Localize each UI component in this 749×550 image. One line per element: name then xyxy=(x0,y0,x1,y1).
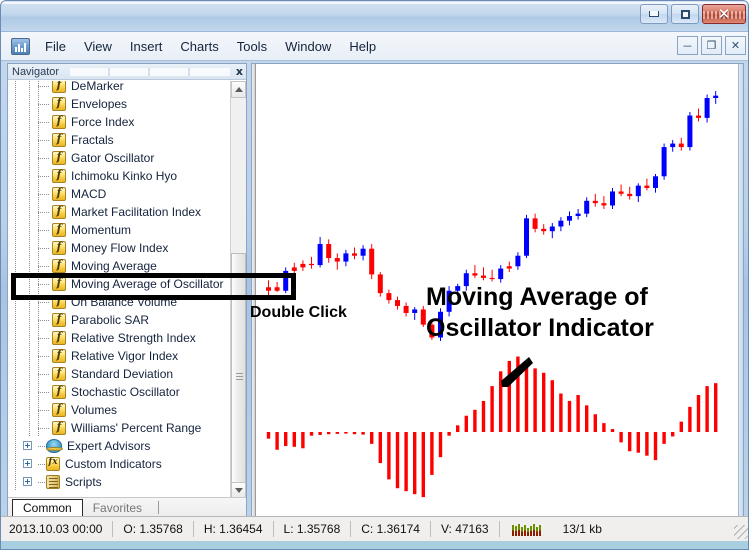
indicator-function-icon xyxy=(52,385,66,399)
navigator-item-label: Moving Average of Oscillator xyxy=(71,277,224,291)
status-low: L: 1.35768 xyxy=(274,521,352,537)
chevron-up-icon xyxy=(235,87,243,92)
navigator-panel: Navigator x DeMarkerEnvelopesForce Index… xyxy=(7,63,247,518)
indicator-function-icon xyxy=(52,295,66,309)
navigator-group-expert-advisors[interactable]: Expert Advisors xyxy=(8,437,230,455)
expand-plus-icon[interactable] xyxy=(22,473,38,491)
status-bar: 2013.10.03 00:00 O: 1.35768 H: 1.36454 L… xyxy=(1,516,749,541)
tree-elbow-icon xyxy=(36,383,52,401)
indicator-function-icon xyxy=(52,331,66,345)
navigator-item-label: Market Facilitation Index xyxy=(71,205,201,219)
close-button[interactable]: ✕ xyxy=(702,4,746,24)
tree-indent xyxy=(22,311,36,329)
tree-indent xyxy=(8,311,22,329)
navigator-tree[interactable]: DeMarkerEnvelopesForce IndexFractalsGato… xyxy=(8,81,246,499)
tree-indent xyxy=(8,185,22,203)
status-datetime: 2013.10.03 00:00 xyxy=(1,521,113,537)
window-caption-buttons: ✕ xyxy=(640,4,746,24)
tab-common[interactable]: Common xyxy=(12,499,83,517)
status-open: O: 1.35768 xyxy=(113,521,193,537)
tree-indent xyxy=(22,167,36,185)
navigator-item-label: Ichimoku Kinko Hyo xyxy=(71,169,177,183)
navigator-item-label: Money Flow Index xyxy=(71,241,168,255)
tree-indent xyxy=(8,437,22,455)
window-bottom-strip xyxy=(1,541,749,549)
navigator-item-relative-strength-index[interactable]: Relative Strength Index xyxy=(8,329,230,347)
tree-indent xyxy=(22,239,36,257)
indicator-function-icon xyxy=(52,259,66,273)
application-window: ✕ File View Insert Charts Tools Window H… xyxy=(0,0,749,550)
indicator-function-icon xyxy=(52,187,66,201)
status-traffic: 13/1 kb xyxy=(553,521,612,537)
navigator-item-label: Moving Average xyxy=(71,259,157,273)
tree-elbow-icon xyxy=(36,419,52,437)
indicator-function-icon xyxy=(52,205,66,219)
tree-indent xyxy=(8,329,22,347)
status-close: C: 1.36174 xyxy=(351,521,431,537)
indicator-function-icon xyxy=(52,169,66,183)
tree-elbow-icon xyxy=(36,275,52,293)
tree-elbow-icon xyxy=(36,221,52,239)
tree-indent xyxy=(8,365,22,383)
status-volume: V: 47163 xyxy=(431,521,500,537)
tree-indent xyxy=(22,365,36,383)
navigator-group-scripts[interactable]: Scripts xyxy=(8,473,230,491)
navigator-item-moving-average[interactable]: Moving Average xyxy=(8,257,230,275)
tree-elbow-icon xyxy=(38,473,46,491)
custom-indicators-icon xyxy=(46,457,60,471)
tree-elbow-icon xyxy=(36,185,52,203)
chart-right-axis xyxy=(738,64,743,517)
tree-elbow-icon xyxy=(36,95,52,113)
tree-indent xyxy=(8,203,22,221)
tree-indent xyxy=(22,401,36,419)
tree-indent xyxy=(8,275,22,293)
tree-indent xyxy=(8,257,22,275)
tree-indent xyxy=(22,275,36,293)
indicator-function-icon xyxy=(52,403,66,417)
menu-view[interactable]: View xyxy=(75,36,121,57)
indicator-function-icon xyxy=(52,133,66,147)
indicator-function-icon xyxy=(52,223,66,237)
navigator-item-stochastic-oscillator[interactable]: Stochastic Oscillator xyxy=(8,383,230,401)
tree-elbow-icon xyxy=(38,437,46,455)
expand-plus-icon[interactable] xyxy=(22,437,38,455)
indicator-function-icon xyxy=(52,97,66,111)
navigator-item-ichimoku-kinko-hyo[interactable]: Ichimoku Kinko Hyo xyxy=(8,167,230,185)
navigator-item-money-flow-index[interactable]: Money Flow Index xyxy=(8,239,230,257)
navigator-item-standard-deviation[interactable]: Standard Deviation xyxy=(8,365,230,383)
navigator-item-label: Volumes xyxy=(71,403,117,417)
indicator-function-icon xyxy=(52,115,66,129)
tree-indent xyxy=(8,455,22,473)
navigator-item-label: MACD xyxy=(71,187,106,201)
connection-strength-icon xyxy=(510,523,543,536)
indicator-function-icon xyxy=(52,367,66,381)
tree-indent xyxy=(8,473,22,491)
navigator-tree-list: DeMarkerEnvelopesForce IndexFractalsGato… xyxy=(8,81,230,491)
tree-indent xyxy=(22,149,36,167)
scripts-icon xyxy=(46,475,60,489)
scrollbar-grip-icon xyxy=(236,373,243,374)
tab-separator xyxy=(158,501,159,514)
tree-elbow-icon xyxy=(38,455,46,473)
navigator-group-label: Custom Indicators xyxy=(65,457,162,471)
scrollbar-thumb[interactable] xyxy=(231,253,246,501)
tree-indent xyxy=(8,149,22,167)
navigator-drag-grip[interactable] xyxy=(70,68,230,76)
navigator-item-market-facilitation-index[interactable]: Market Facilitation Index xyxy=(8,203,230,221)
navigator-item-fractals[interactable]: Fractals xyxy=(8,131,230,149)
status-connection[interactable] xyxy=(500,521,553,537)
tree-elbow-icon xyxy=(36,131,52,149)
tree-elbow-icon xyxy=(36,293,52,311)
indicator-annotation-line2: Oscillator Indicator xyxy=(426,313,716,344)
maximize-button[interactable] xyxy=(671,4,699,24)
mdi-minimize-button[interactable]: － xyxy=(677,36,698,55)
navigator-item-moving-average-of-oscillator[interactable]: Moving Average of Oscillator xyxy=(8,275,230,293)
tree-indent xyxy=(8,383,22,401)
expand-plus-icon[interactable] xyxy=(22,455,38,473)
tree-elbow-icon xyxy=(36,203,52,221)
indicator-function-icon xyxy=(52,421,66,435)
navigator-item-force-index[interactable]: Force Index xyxy=(8,113,230,131)
tree-indent xyxy=(8,419,22,437)
indicator-annotation-title: Moving Average of Oscillator Indicator xyxy=(426,282,716,344)
title-bar-glow xyxy=(2,2,747,4)
indicator-function-icon xyxy=(52,151,66,165)
tree-indent xyxy=(22,293,36,311)
navigator-item-label: Stochastic Oscillator xyxy=(71,385,180,399)
tree-indent xyxy=(8,221,22,239)
tree-indent xyxy=(8,95,22,113)
navigator-item-label: Gator Oscillator xyxy=(71,151,154,165)
menu-charts[interactable]: Charts xyxy=(171,36,227,57)
tree-elbow-icon xyxy=(36,113,52,131)
navigator-item-label: Envelopes xyxy=(71,97,127,111)
tree-elbow-icon xyxy=(36,401,52,419)
tree-indent xyxy=(22,203,36,221)
tree-indent xyxy=(8,347,22,365)
navigator-header: Navigator x xyxy=(8,64,246,80)
tree-indent xyxy=(8,81,22,95)
navigator-item-gator-oscillator[interactable]: Gator Oscillator xyxy=(8,149,230,167)
tree-elbow-icon xyxy=(36,167,52,185)
title-bar: ✕ xyxy=(1,1,749,32)
tree-indent xyxy=(8,239,22,257)
tree-elbow-icon xyxy=(36,81,52,95)
navigator-group-custom-indicators[interactable]: Custom Indicators xyxy=(8,455,230,473)
navigator-item-label: Relative Strength Index xyxy=(71,331,196,345)
tree-indent xyxy=(22,185,36,203)
navigator-item-envelopes[interactable]: Envelopes xyxy=(8,95,230,113)
status-high: H: 1.36454 xyxy=(194,521,274,537)
navigator-item-label: DeMarker xyxy=(71,81,124,93)
navigator-item-label: Fractals xyxy=(71,133,114,147)
navigator-scrollbar[interactable] xyxy=(230,81,246,499)
navigator-item-on-balance-volume[interactable]: On Balance Volume xyxy=(8,293,230,311)
tree-elbow-icon xyxy=(36,329,52,347)
tab-favorites[interactable]: Favorites xyxy=(83,499,152,517)
navigator-close-icon[interactable]: x xyxy=(236,65,243,79)
navigator-item-label: Momentum xyxy=(71,223,131,237)
expert-advisors-icon xyxy=(46,439,62,453)
mdi-restore-button[interactable]: ❐ xyxy=(701,36,722,55)
tree-indent xyxy=(22,347,36,365)
resize-grip-icon[interactable] xyxy=(734,525,748,539)
navigator-item-label: Force Index xyxy=(71,115,134,129)
tree-indent xyxy=(22,383,36,401)
tree-indent xyxy=(22,113,36,131)
navigator-tabs: Common Favorites xyxy=(8,497,246,517)
minimize-button[interactable] xyxy=(640,4,668,24)
mdi-window-buttons: － ❐ ✕ xyxy=(677,36,746,55)
navigator-item-label: Parabolic SAR xyxy=(71,313,149,327)
menu-window[interactable]: Window xyxy=(276,36,340,57)
chevron-down-icon xyxy=(235,488,243,493)
tree-indent xyxy=(8,401,22,419)
navigator-item-volumes[interactable]: Volumes xyxy=(8,401,230,419)
tree-elbow-icon xyxy=(36,365,52,383)
navigator-group-label: Scripts xyxy=(65,475,102,489)
tree-indent xyxy=(22,81,36,95)
navigator-item-relative-vigor-index[interactable]: Relative Vigor Index xyxy=(8,347,230,365)
navigator-item-williams-percent-range[interactable]: Williams' Percent Range xyxy=(8,419,230,437)
scroll-up-button[interactable] xyxy=(231,81,246,98)
tree-elbow-icon xyxy=(36,311,52,329)
navigator-group-label: Expert Advisors xyxy=(67,439,150,453)
indicator-function-icon xyxy=(52,81,66,93)
tree-elbow-icon xyxy=(36,149,52,167)
menu-help[interactable]: Help xyxy=(340,36,385,57)
tree-indent xyxy=(8,113,22,131)
indicator-annotation-line1: Moving Average of xyxy=(426,282,716,313)
indicator-function-icon xyxy=(52,277,66,291)
indicator-function-icon xyxy=(52,349,66,363)
tree-elbow-icon xyxy=(36,347,52,365)
tree-indent xyxy=(8,293,22,311)
tree-indent xyxy=(22,419,36,437)
menu-insert[interactable]: Insert xyxy=(121,36,172,57)
mdi-close-button[interactable]: ✕ xyxy=(725,36,746,55)
navigator-item-parabolic-sar[interactable]: Parabolic SAR xyxy=(8,311,230,329)
close-icon: ✕ xyxy=(718,7,731,22)
navigator-item-label: Williams' Percent Range xyxy=(71,421,201,435)
tree-indent xyxy=(22,221,36,239)
navigator-item-label: Relative Vigor Index xyxy=(71,349,178,363)
navigator-item-label: On Balance Volume xyxy=(71,295,177,309)
minimize-icon xyxy=(649,11,659,17)
maximize-icon xyxy=(681,10,690,19)
double-click-label: Double Click xyxy=(250,304,347,322)
navigator-item-demarker[interactable]: DeMarker xyxy=(8,81,230,95)
tree-indent xyxy=(22,95,36,113)
tree-indent xyxy=(8,131,22,149)
tree-indent xyxy=(8,167,22,185)
tree-elbow-icon xyxy=(36,239,52,257)
navigator-item-label: Standard Deviation xyxy=(71,367,173,381)
tree-indent xyxy=(22,131,36,149)
chart-app-icon xyxy=(11,38,30,55)
menu-tools[interactable]: Tools xyxy=(228,36,276,57)
navigator-item-macd[interactable]: MACD xyxy=(8,185,230,203)
menu-file[interactable]: File xyxy=(36,36,75,57)
tree-elbow-icon xyxy=(36,257,52,275)
indicator-function-icon xyxy=(52,313,66,327)
indicator-function-icon xyxy=(52,241,66,255)
navigator-title: Navigator xyxy=(8,66,59,78)
tree-indent xyxy=(22,329,36,347)
tree-indent xyxy=(22,257,36,275)
navigator-item-momentum[interactable]: Momentum xyxy=(8,221,230,239)
menu-bar: File View Insert Charts Tools Window Hel… xyxy=(1,32,749,61)
